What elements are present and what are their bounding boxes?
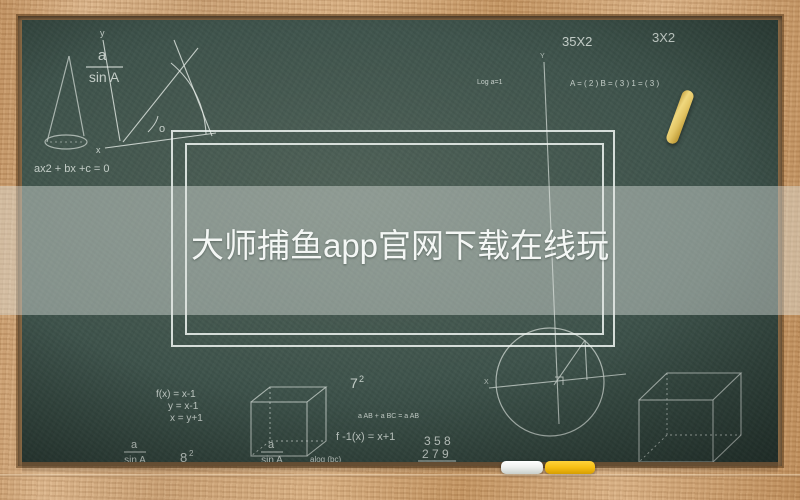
- page-title: 大师捕鱼app官网下载在线玩: [0, 226, 800, 266]
- yellow-chalk-stick-ledge: [545, 461, 595, 474]
- chalk-ledge-edge: [0, 474, 800, 477]
- white-chalk-stick: [501, 461, 543, 474]
- ledge-shadow: [22, 462, 778, 474]
- chalkboard-banner: a sin A y x o ax2 + bx +c = 0: [0, 0, 800, 500]
